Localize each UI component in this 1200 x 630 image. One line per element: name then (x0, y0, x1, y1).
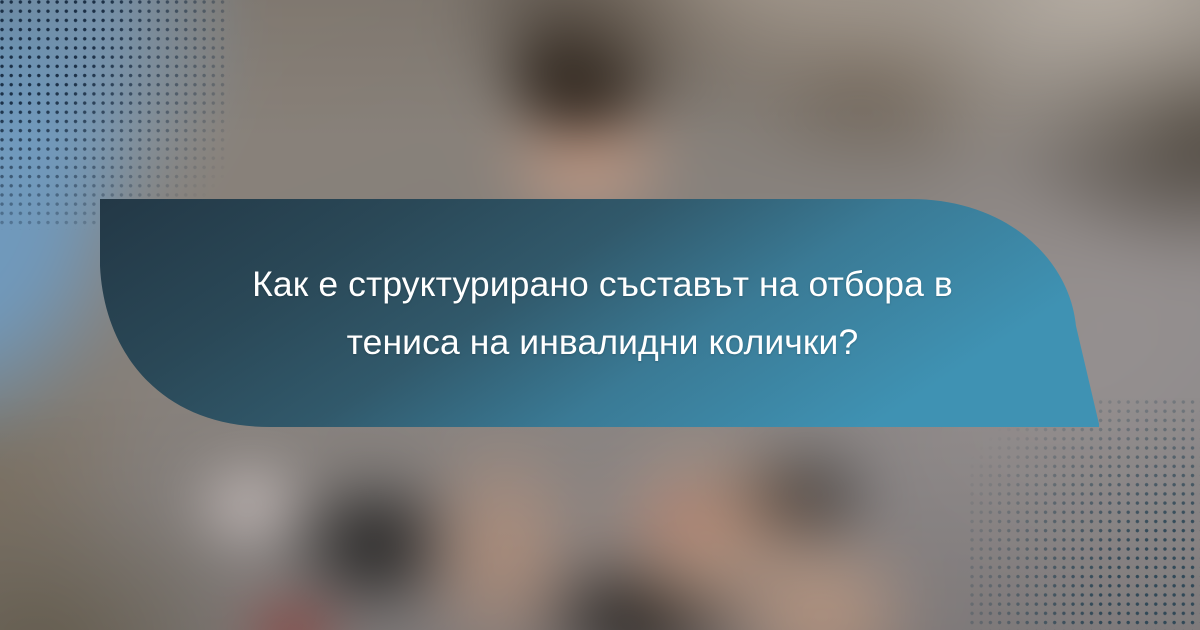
halftone-bottom-right-icon (970, 400, 1200, 630)
title-line-1: Как е структурирано съставът на отбора в (252, 255, 953, 313)
page-title: Как е структурирано съставът на отбора в… (150, 199, 1055, 426)
social-card: Как е структурирано съставът на отбора в… (0, 0, 1200, 630)
title-line-2: тениса на инвалидни колички? (347, 313, 859, 371)
halftone-top-left-icon (0, 0, 230, 230)
